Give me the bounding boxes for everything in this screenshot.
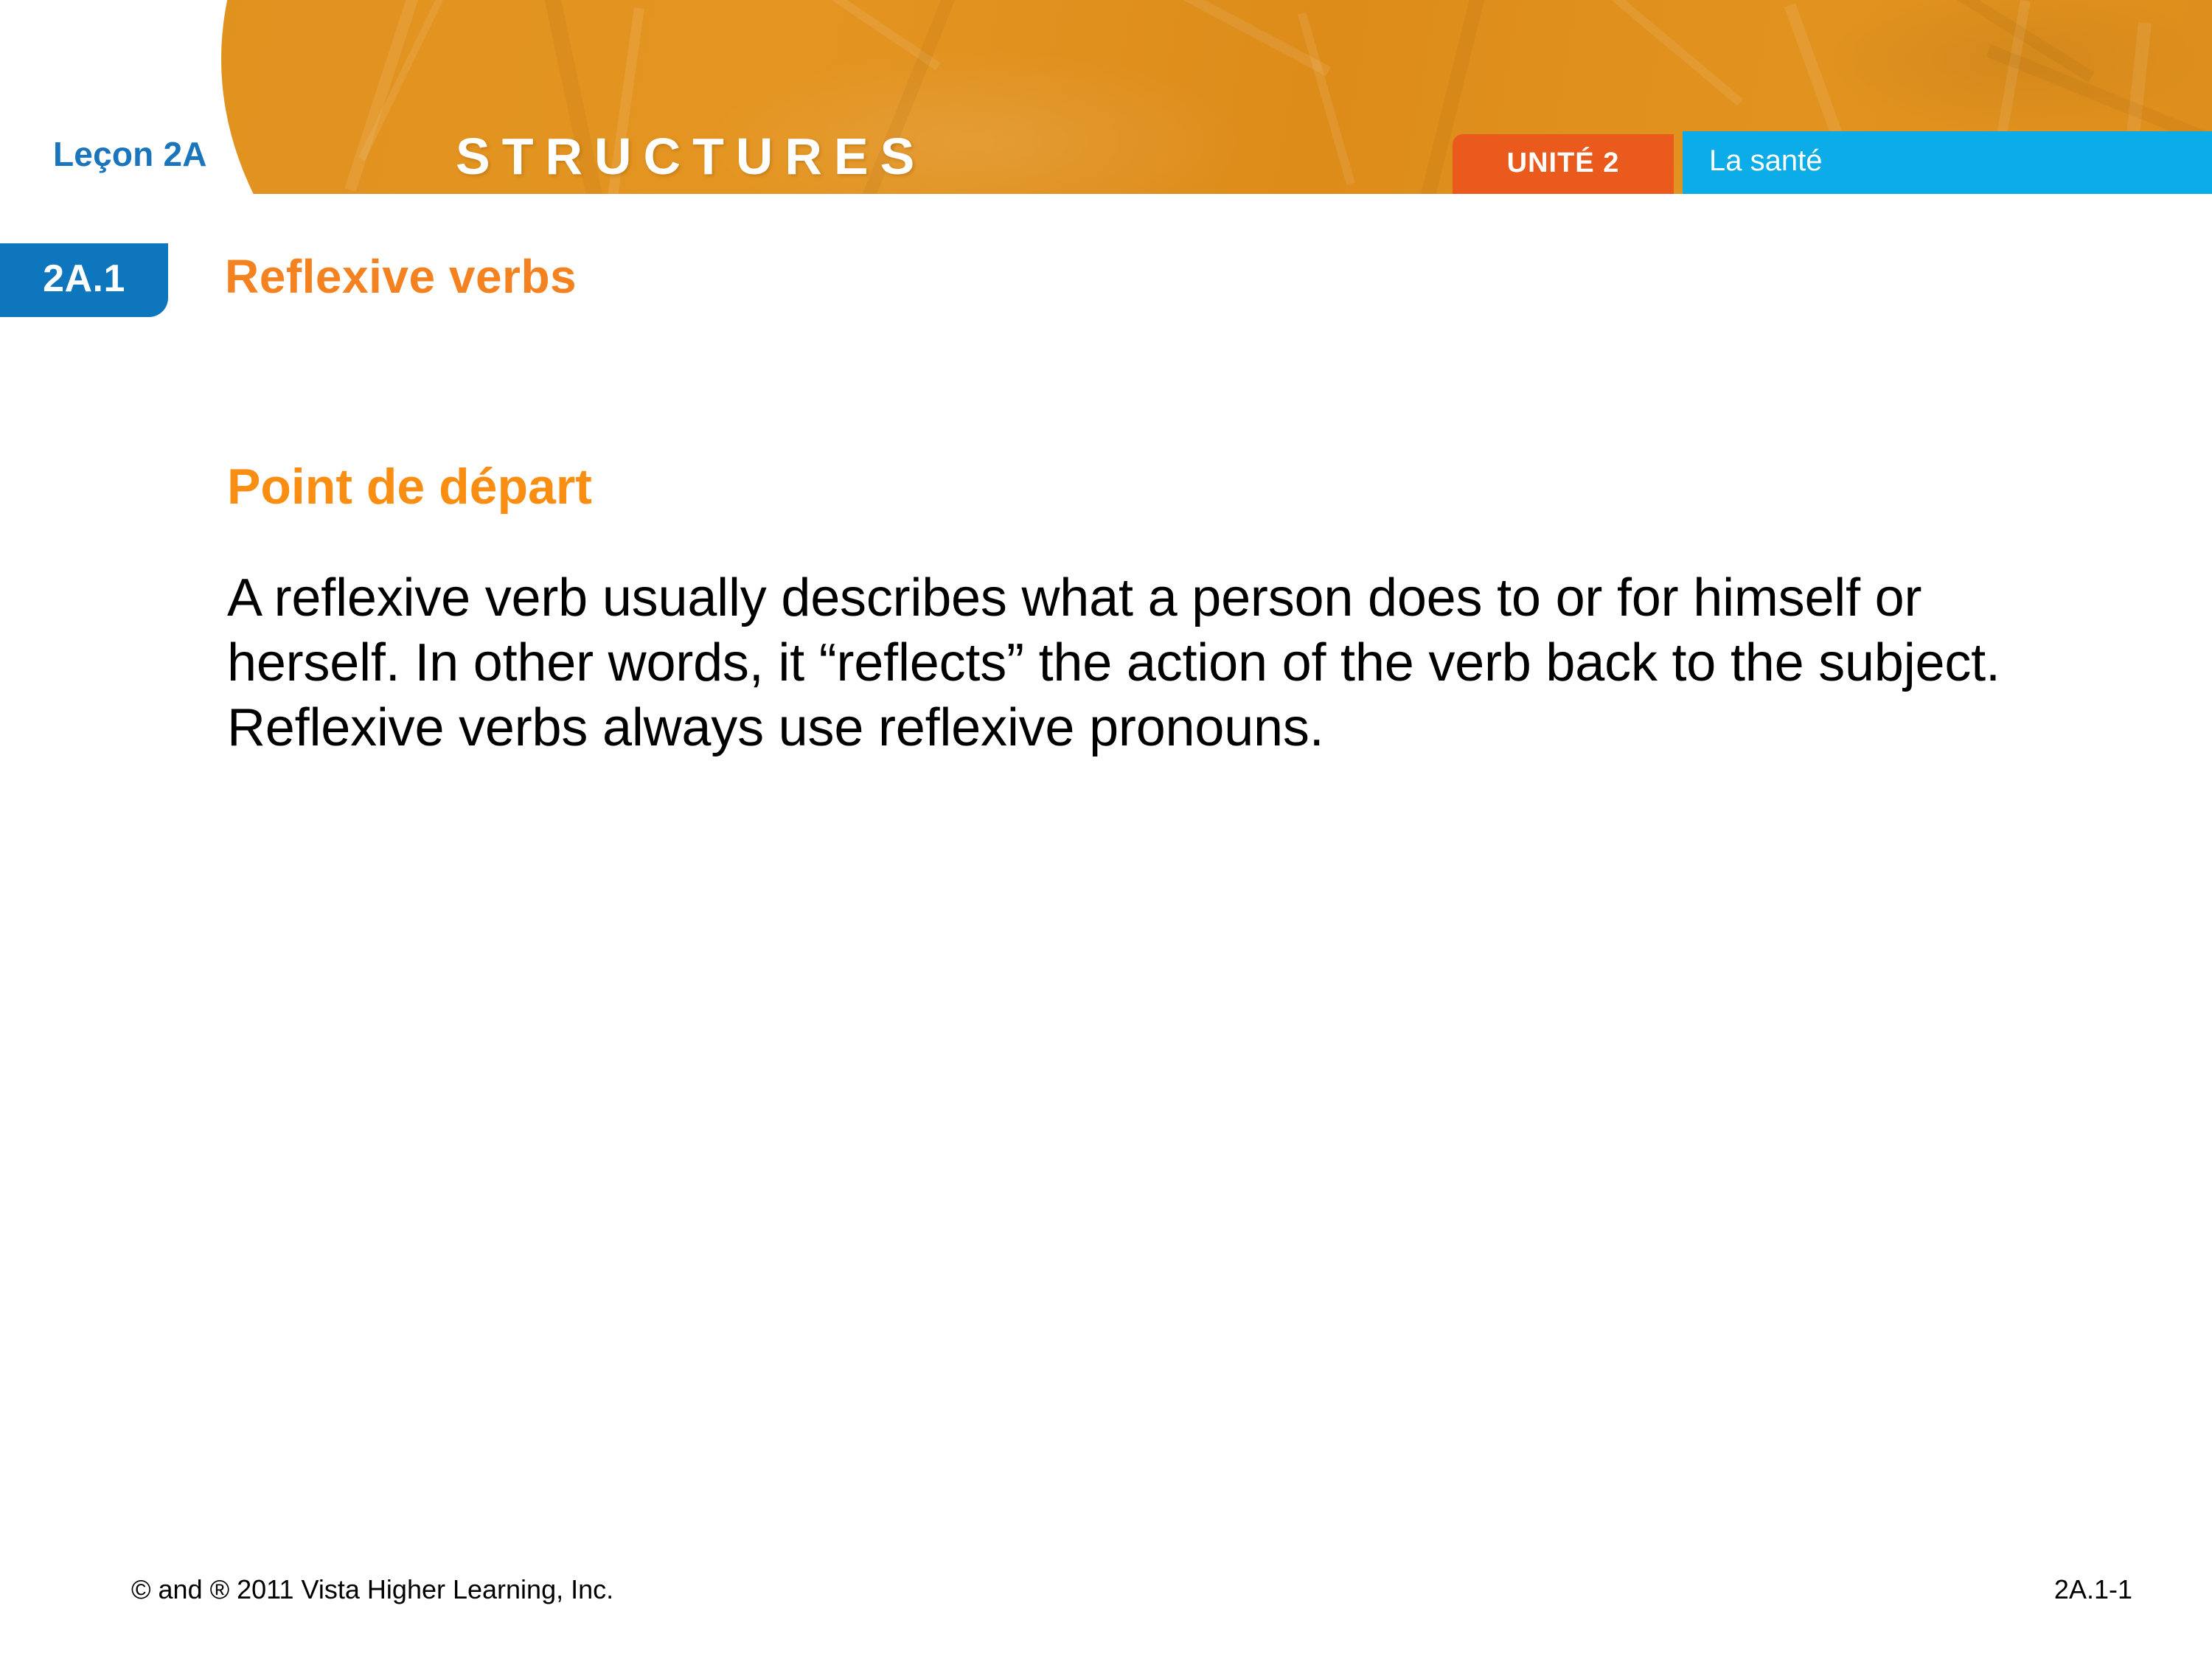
- section-number-badge: 2A.1: [0, 243, 168, 317]
- header-banner: Leçon 2A STRUCTURES UNITÉ 2 La santé: [0, 0, 2212, 194]
- footer-copyright: © and ® 2011 Vista Higher Learning, Inc.: [131, 1574, 613, 1605]
- banner-title: STRUCTURES: [456, 127, 926, 186]
- unit-tab: UNITÉ 2: [1453, 134, 1674, 194]
- section-title: Reflexive verbs: [225, 249, 577, 304]
- body-paragraph: A reflexive verb usually describes what …: [227, 566, 2100, 760]
- footer-page-number: 2A.1-1: [2054, 1574, 2132, 1605]
- lesson-label: Leçon 2A: [53, 134, 207, 174]
- slide-content: Point de départ A reflexive verb usually…: [227, 461, 2115, 761]
- point-de-depart-heading: Point de départ: [227, 461, 2115, 513]
- unit-theme-tab: La santé: [1683, 131, 2212, 194]
